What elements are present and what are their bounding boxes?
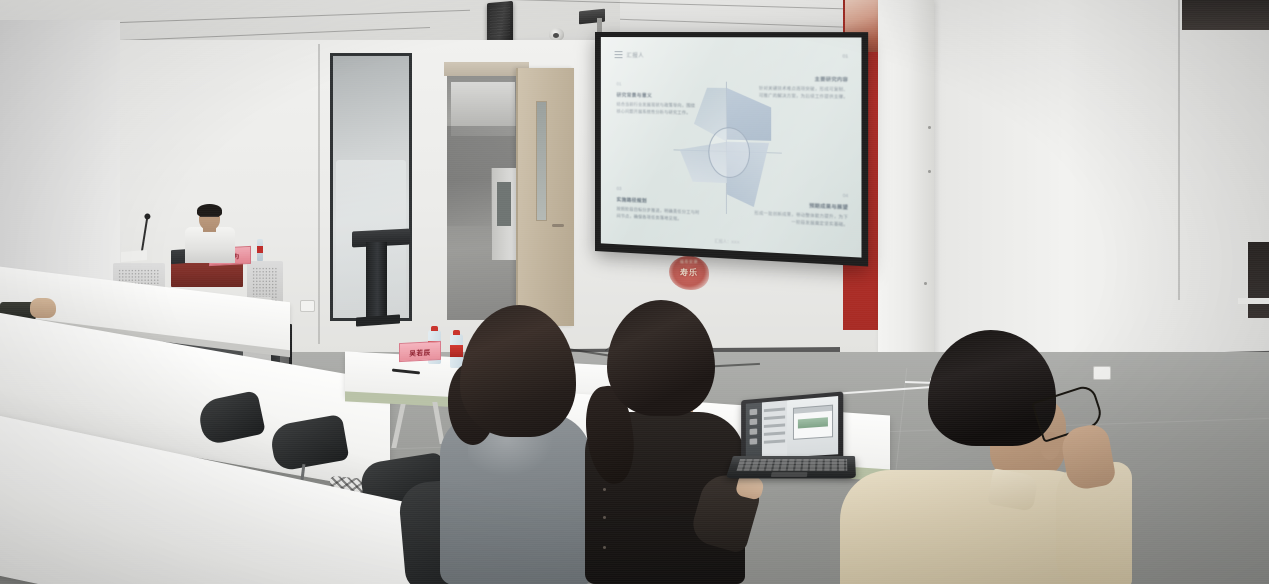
app-dialog xyxy=(793,405,833,440)
presenter-glasses-icon xyxy=(200,216,219,221)
list-item xyxy=(764,431,785,435)
dialog-content xyxy=(798,417,828,428)
sticker-small-text: 福寿安康 xyxy=(669,259,709,265)
dialog-titlebar xyxy=(794,406,832,414)
app-icon xyxy=(750,419,758,425)
laptop-screen[interactable] xyxy=(746,396,838,460)
pillar-screw xyxy=(928,170,931,173)
quadrant-tag: 04 xyxy=(753,189,848,198)
app-conversation-list xyxy=(762,400,787,458)
app-icon xyxy=(750,409,758,416)
sticker-text: 寿乐 xyxy=(669,267,709,278)
attendee-hair xyxy=(607,300,715,416)
list-item xyxy=(764,423,785,428)
projection-screen: 汇报人 01 01 研究背景与意义 结合当前行业发展现状与 xyxy=(595,32,868,267)
screen-surface: 汇报人 01 01 研究背景与意义 结合当前行业发展现状与 xyxy=(601,37,862,258)
presenter-body xyxy=(185,227,235,263)
door-opening xyxy=(447,76,519,320)
laptop-trackpad[interactable] xyxy=(771,472,808,477)
presenter xyxy=(183,206,235,260)
list-item xyxy=(764,439,785,443)
bottle-cap xyxy=(431,326,438,331)
slide-footer: 汇报人：XXX xyxy=(714,238,739,246)
podium-papers xyxy=(121,250,147,262)
table-name-text: 吴若辰 xyxy=(409,346,430,357)
conference-room-photo: 福寿安康 寿乐 汇报人 01 xyxy=(0,0,1269,584)
attendee-laptop[interactable] xyxy=(733,396,855,492)
hand xyxy=(30,298,56,318)
laptop-lid xyxy=(741,391,843,464)
standing-lectern xyxy=(352,230,410,328)
quadrant-title: 主要研究内容 xyxy=(755,75,848,83)
attendee-hair xyxy=(928,330,1056,446)
wall-outlet[interactable] xyxy=(300,300,315,312)
list-item xyxy=(764,415,785,420)
attendee-hair xyxy=(460,305,576,437)
window-sill xyxy=(1238,298,1269,304)
pillar-screw xyxy=(928,126,931,129)
quadrant-body: 形成一批创新成果，带动整体能力提升，为下一阶段发展奠定坚实基础。 xyxy=(753,210,848,228)
door-vision-panel xyxy=(536,101,547,221)
app-main-pane xyxy=(787,396,838,457)
slide-header-text: 汇报人 xyxy=(626,51,644,59)
app-sidebar xyxy=(746,402,762,459)
wall-seam xyxy=(318,44,320,344)
pinwheel-hub xyxy=(708,127,750,179)
laptop-keyboard[interactable] xyxy=(737,459,848,471)
attendee-beige-shirt xyxy=(840,330,1140,584)
app-icon xyxy=(750,428,758,434)
window-upper-right xyxy=(1182,0,1269,30)
white-pillar xyxy=(878,0,934,372)
slide-quadrant-bottom-right: 04 预期成果与展望 形成一批创新成果，带动整体能力提升，为下一阶段发展奠定坚实… xyxy=(753,189,848,228)
wooden-door[interactable] xyxy=(516,68,574,326)
quadrant-title: 研究背景与意义 xyxy=(617,91,699,99)
attendee-grey-sweater xyxy=(440,305,595,584)
menu-bars-icon xyxy=(615,51,623,59)
app-icon xyxy=(750,438,758,444)
quadrant-tag: 01 xyxy=(617,81,699,87)
attendee-black-top xyxy=(585,300,755,584)
corridor-cabinet-dark xyxy=(497,182,511,226)
slide-number: 01 xyxy=(843,53,849,58)
laptop-base xyxy=(726,456,856,478)
pillar-screw xyxy=(924,282,927,285)
list-item xyxy=(764,407,785,412)
table-name-placard: 吴若辰 xyxy=(399,341,441,362)
podium-water-bottle xyxy=(257,239,263,261)
quadrant-title: 实施路径规划 xyxy=(617,196,702,207)
slide-quadrant-bottom-left: 03 实施路径规划 按照阶段目标分步推进，明确责任分工与时间节点，确保各项任务落… xyxy=(617,186,702,224)
new-year-sticker: 福寿安康 寿乐 xyxy=(669,256,709,290)
presentation-slide: 汇报人 01 01 研究背景与意义 结合当前行业发展现状与 xyxy=(601,37,862,258)
window-right xyxy=(1246,242,1269,318)
lectern-base xyxy=(356,314,400,326)
quadrant-body: 按照阶段目标分步推进，明确责任分工与时间节点，确保各项任务落地见效。 xyxy=(617,206,702,223)
quadrant-body: 针对关键技术难点逐项突破，形成可复制、可推广的解决方案，为后续工作提供支撑。 xyxy=(755,85,848,100)
slide-header: 汇报人 xyxy=(615,51,644,59)
slide-quadrant-top-right: 主要研究内容 针对关键技术难点逐项突破，形成可复制、可推广的解决方案，为后续工作… xyxy=(755,75,848,101)
lectern-column xyxy=(366,242,387,320)
slide-quadrant-top-left: 01 研究背景与意义 结合当前行业发展现状与政策导向，围绕核心问题开展系统性分析… xyxy=(617,81,699,116)
quadrant-title: 预期成果与展望 xyxy=(753,200,848,211)
quadrant-body: 结合当前行业发展现状与政策导向，围绕核心问题开展系统性分析与研究工作。 xyxy=(617,101,699,116)
wall-seam xyxy=(1178,0,1180,300)
door-handle[interactable] xyxy=(552,224,564,227)
